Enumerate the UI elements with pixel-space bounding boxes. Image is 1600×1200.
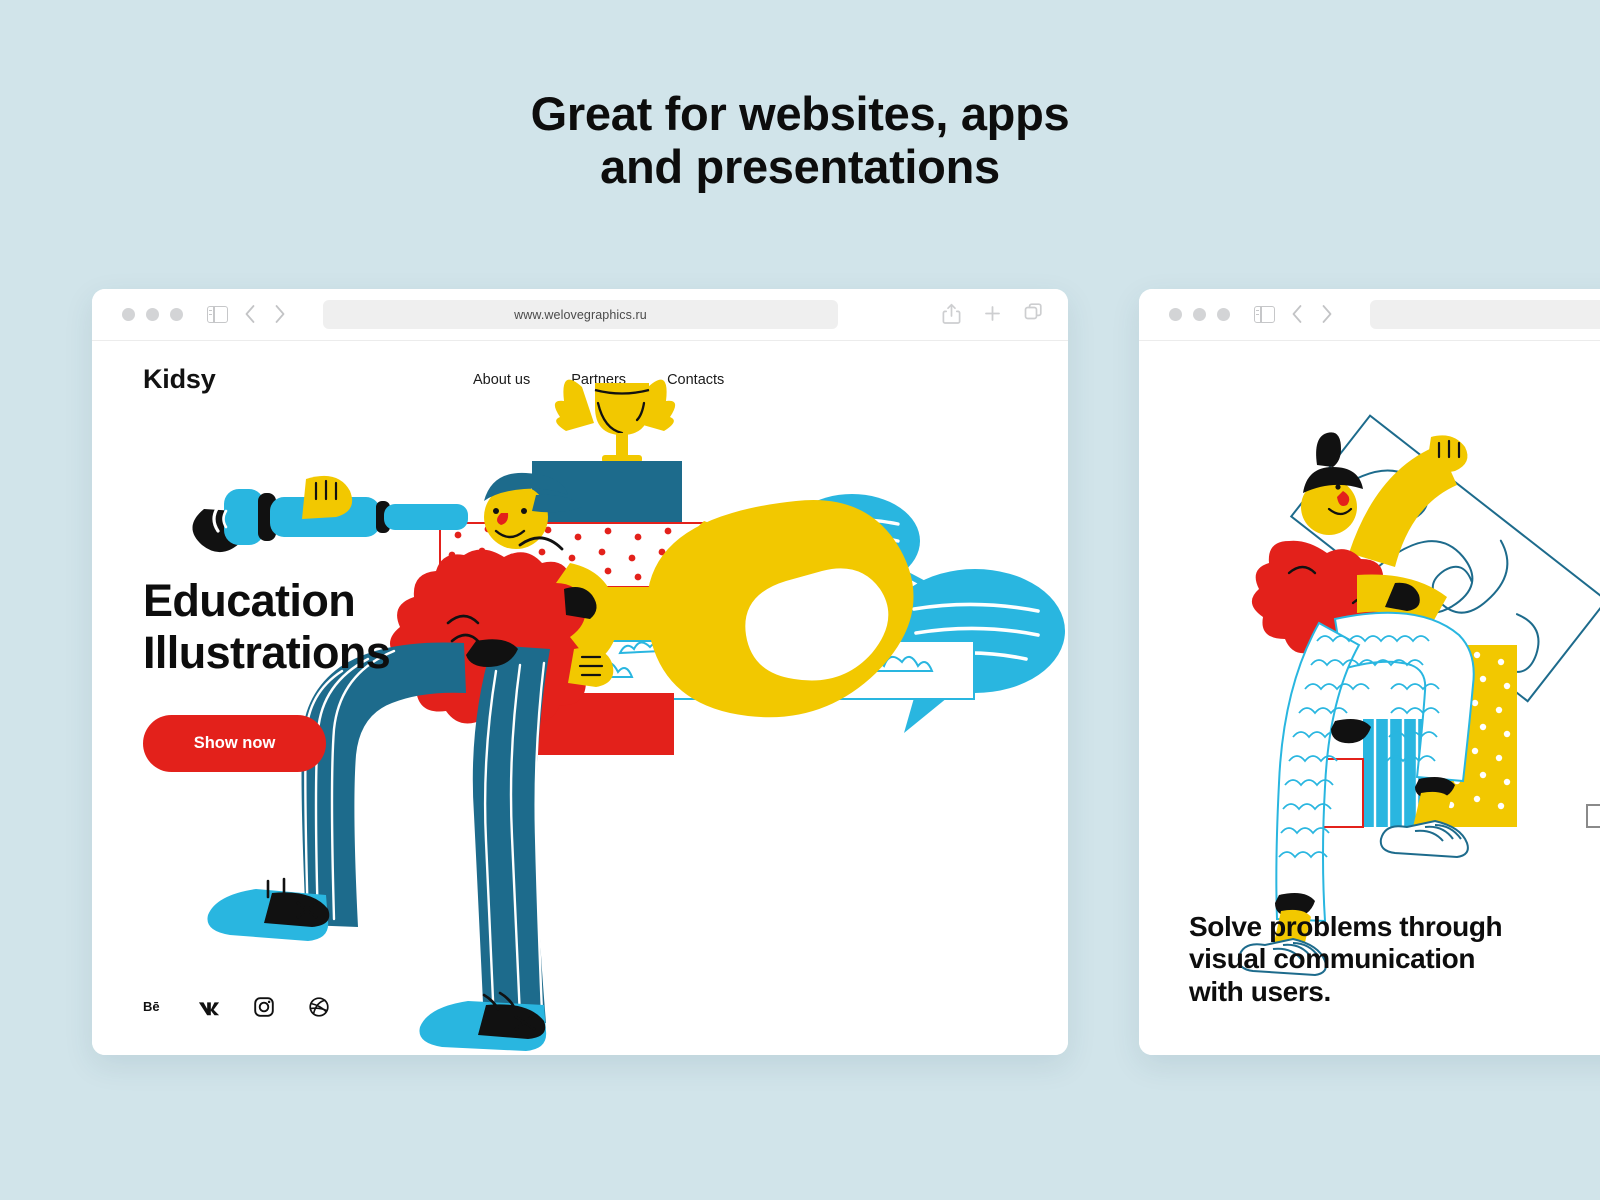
headline-line-1: Great for websites, apps: [0, 88, 1600, 141]
sneaker-left: [207, 879, 329, 941]
browser-chrome-secondary: ww: [1139, 289, 1600, 341]
yellow-dotted-column: [1439, 645, 1517, 827]
address-bar-secondary[interactable]: ww: [1370, 300, 1600, 329]
nav-item-about-us[interactable]: About us: [473, 372, 530, 388]
browser-window-secondary: ww: [1139, 289, 1600, 1055]
svg-text:Bē: Bē: [143, 999, 160, 1014]
pedestal-block: [532, 461, 682, 523]
url-text: www.welovegraphics.ru: [514, 308, 647, 322]
character-head-secondary: [1301, 432, 1363, 535]
sidebar-icon[interactable]: [1254, 306, 1275, 323]
site-logo[interactable]: Kidsy: [143, 364, 216, 395]
browser-window-main: www.welovegraphics.ru: [92, 289, 1068, 1055]
vk-icon[interactable]: [198, 996, 220, 1018]
yellow-column-dots: [1446, 652, 1510, 809]
site-navbar: Kidsy About us Partners Contacts: [143, 364, 1068, 404]
yellow-bar: [516, 587, 876, 641]
sneaker-right: [419, 993, 546, 1051]
behance-icon[interactable]: Bē: [143, 996, 165, 1018]
share-icon[interactable]: [942, 303, 961, 325]
poster-canvas: Great for websites, apps and presentatio…: [0, 0, 1600, 1200]
back-chevron-left-icon[interactable]: [244, 304, 256, 324]
character-girl-hanging-artwork: [1239, 432, 1474, 975]
cloud-pattern-bar: [554, 641, 974, 699]
back-chevron-left-icon[interactable]: [1291, 304, 1303, 324]
dribbble-icon[interactable]: [308, 996, 330, 1018]
plus-icon[interactable]: [983, 303, 1002, 325]
minimize-window-dot[interactable]: [146, 308, 159, 321]
caption-line-2: visual communication: [1189, 943, 1600, 975]
secondary-caption: Solve problems through visual communicat…: [1189, 911, 1600, 1008]
traffic-lights[interactable]: [122, 308, 183, 321]
maximize-window-dot[interactable]: [170, 308, 183, 321]
character-head: [484, 473, 582, 549]
red-block: [536, 693, 674, 755]
caption-line-1: Solve problems through: [1189, 911, 1600, 943]
instagram-icon[interactable]: [253, 996, 275, 1018]
close-window-dot[interactable]: [122, 308, 135, 321]
tilted-doodle-panel: [1291, 416, 1600, 702]
caption-line-3: with users.: [1189, 976, 1600, 1008]
website-page-main: Kidsy About us Partners Contacts: [92, 341, 1068, 1055]
tabs-icon[interactable]: [1024, 303, 1043, 325]
headline-line-2: and presentations: [0, 141, 1600, 194]
browser-chrome-main: www.welovegraphics.ru: [92, 289, 1068, 341]
nav-links: About us Partners Contacts: [473, 372, 724, 388]
website-page-secondary: Solve problems through visual communicat…: [1139, 341, 1600, 1055]
close-window-dot[interactable]: [1169, 308, 1182, 321]
hero-title-line-2: Illustrations: [143, 627, 483, 679]
character-legs-secondary: [1273, 613, 1474, 951]
red-cloud-scarf: [1252, 541, 1397, 658]
address-bar[interactable]: www.welovegraphics.ru: [323, 300, 838, 329]
hero-title-line-1: Education: [143, 575, 483, 627]
speech-bubble-small: [784, 494, 972, 609]
cyan-striped-column: [1363, 719, 1431, 827]
nav-item-contacts[interactable]: Contacts: [667, 372, 724, 388]
hero-block: Education Illustrations Show now: [143, 575, 483, 772]
nav-item-partners[interactable]: Partners: [571, 372, 626, 388]
traffic-lights-secondary[interactable]: [1169, 308, 1230, 321]
red-outline-rect: [1309, 759, 1363, 827]
gray-outline-rect: [1587, 805, 1600, 827]
forward-chevron-right-icon[interactable]: [274, 304, 286, 324]
sidebar-icon[interactable]: [207, 306, 228, 323]
chrome-actions: [942, 303, 1043, 325]
sneaker-raised: [1381, 821, 1468, 857]
speech-bubble-large: [885, 569, 1065, 733]
forward-chevron-right-icon[interactable]: [1321, 304, 1333, 324]
minimize-window-dot[interactable]: [1193, 308, 1206, 321]
show-now-button[interactable]: Show now: [143, 715, 326, 772]
hero-title: Education Illustrations: [143, 575, 483, 679]
page-title: Great for websites, apps and presentatio…: [0, 88, 1600, 193]
telescope: [192, 476, 468, 552]
maximize-window-dot[interactable]: [1217, 308, 1230, 321]
social-links: Bē: [143, 996, 330, 1018]
